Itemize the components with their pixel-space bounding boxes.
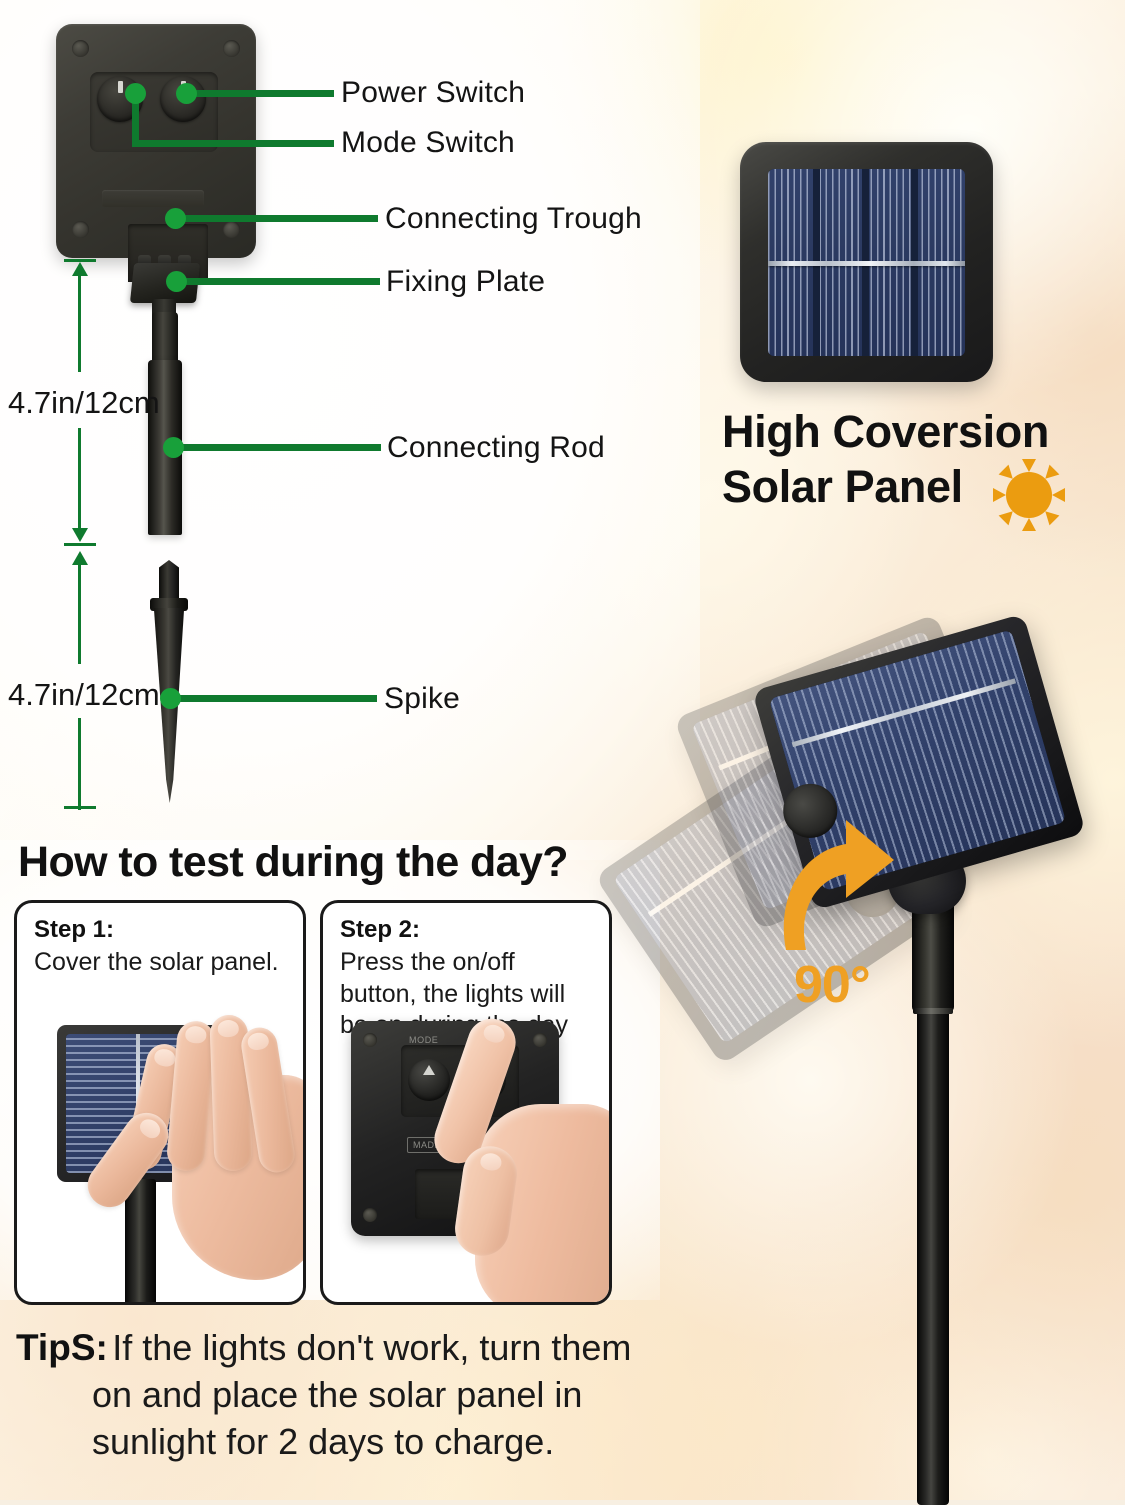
tips-label: TipS: xyxy=(16,1327,108,1368)
step-2-title: Step 2: xyxy=(340,916,420,944)
tips-text-line-1: If the lights don't work, turn them xyxy=(112,1327,631,1368)
solar-title-line-2: Solar Panel xyxy=(722,461,963,512)
sun-icon xyxy=(993,459,1065,531)
solar-busbar xyxy=(768,261,965,266)
tips-text-line-3: sunlight for 2 days to charge. xyxy=(92,1419,554,1466)
knob-tick-icon xyxy=(423,1065,435,1075)
dimension-cap-mid xyxy=(64,543,96,546)
callout-label-fixing-plate: Fixing Plate xyxy=(386,265,545,299)
callout-line-power-switch xyxy=(186,90,334,97)
fingernail xyxy=(482,1022,507,1045)
screw-icon xyxy=(72,221,89,238)
dimension-line-upper-a xyxy=(78,272,81,372)
fingernail xyxy=(217,1020,239,1038)
knob-tick-icon xyxy=(118,81,123,93)
dimension-line-lower-a xyxy=(78,562,81,664)
rotating-lamp-illustration: 90° xyxy=(620,630,1125,1500)
callout-line-spike xyxy=(170,695,377,702)
sun-ray xyxy=(1052,488,1065,502)
callout-line-connecting-rod xyxy=(173,444,381,451)
mode-marking: MODE xyxy=(409,1035,438,1045)
dimension-label-upper: 4.7in/12cm xyxy=(8,385,160,421)
callout-label-connecting-trough: Connecting Trough xyxy=(385,202,642,236)
fingernail xyxy=(479,1152,502,1172)
dimension-line-lower-b xyxy=(78,718,81,810)
callout-dot-mode-switch xyxy=(125,83,146,104)
callout-dot-fixing-plate xyxy=(166,271,187,292)
lamp-pole-ring xyxy=(913,1008,953,1014)
callout-dot-connecting-rod xyxy=(163,437,184,458)
sun-disc xyxy=(1006,472,1052,518)
callout-line-mode-switch-horizontal xyxy=(132,140,334,147)
dimension-cap-bottom xyxy=(64,806,96,809)
mode-button[interactable] xyxy=(408,1059,450,1101)
callout-label-mode-switch: Mode Switch xyxy=(341,126,515,160)
rotation-degrees-label: 90° xyxy=(794,955,870,1015)
screw-icon xyxy=(72,40,89,57)
step-1-body: Cover the solar panel. xyxy=(34,947,291,979)
model-emboss xyxy=(102,190,204,207)
callout-label-spike: Spike xyxy=(384,682,460,716)
sun-ray xyxy=(1022,459,1036,472)
screw-icon xyxy=(223,40,240,57)
hand-pressing-button-illustration xyxy=(445,1008,612,1305)
callout-dot-spike xyxy=(160,688,181,709)
fingernail xyxy=(153,1047,177,1068)
solar-panel-photo xyxy=(740,142,993,382)
screw-icon xyxy=(363,1033,377,1047)
fingernail xyxy=(185,1025,207,1044)
fingernail xyxy=(246,1031,269,1051)
tips-line-1: TipS: If the lights don't work, turn the… xyxy=(16,1325,631,1372)
dimension-label-lower: 4.7in/12cm xyxy=(8,677,160,713)
spike-cap xyxy=(159,560,179,602)
callout-dot-power-switch xyxy=(176,83,197,104)
callout-dot-connecting-trough xyxy=(165,208,186,229)
dimension-line-upper-b xyxy=(78,428,81,534)
callout-line-connecting-trough xyxy=(175,215,378,222)
dimension-arrow-down xyxy=(72,528,88,542)
sun-ray xyxy=(993,488,1006,502)
sun-ray xyxy=(1022,518,1036,531)
solar-title-line-1: High Coversion xyxy=(722,406,1049,457)
step-card-1: Step 1: Cover the solar panel. xyxy=(14,900,306,1305)
callout-label-connecting-rod: Connecting Rod xyxy=(387,431,605,465)
solar-panel-cells xyxy=(768,169,965,356)
curved-rotate-arrow-icon xyxy=(770,808,900,958)
fixing-plate xyxy=(126,255,204,317)
hand-covering-panel-illustration xyxy=(122,1015,306,1280)
step-1-title: Step 1: xyxy=(34,916,114,944)
step-card-2: Step 2: Press the on/off button, the lig… xyxy=(320,900,612,1305)
callout-line-fixing-plate xyxy=(176,278,380,285)
tips-text-line-2: on and place the solar panel in xyxy=(92,1372,582,1419)
howto-heading: How to test during the day? xyxy=(18,838,568,887)
screw-icon xyxy=(223,221,240,238)
fingernail xyxy=(137,1116,164,1142)
screw-icon xyxy=(363,1208,377,1222)
callout-label-power-switch: Power Switch xyxy=(341,76,525,110)
